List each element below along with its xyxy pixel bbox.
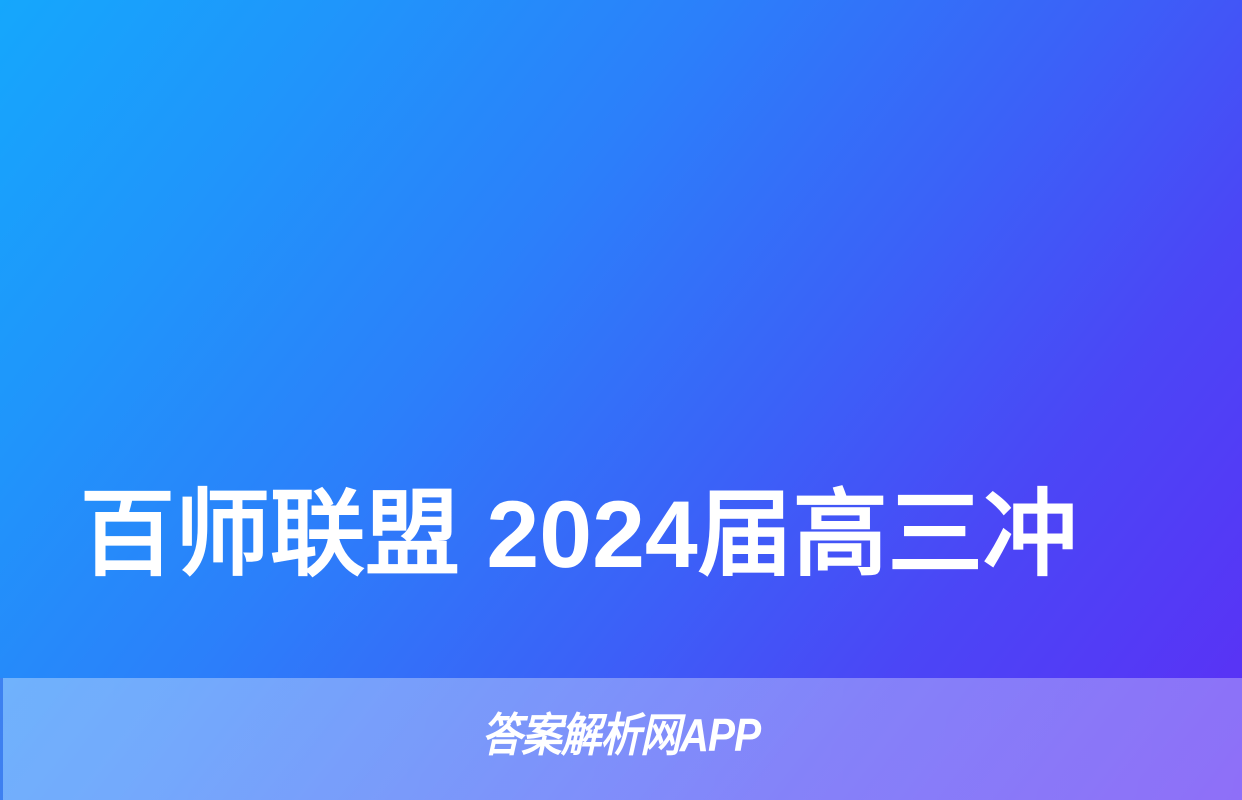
watermark-band-left-edge bbox=[0, 678, 3, 800]
page-title-line-1: 百师联盟 2024届高三冲 bbox=[80, 464, 1162, 607]
poster-canvas: 百师联盟 2024届高三冲 刺卷(四)4 新高考卷语文 答案 答案解析网APP bbox=[0, 0, 1242, 800]
watermark-label: 答案解析网APP bbox=[75, 706, 1168, 764]
